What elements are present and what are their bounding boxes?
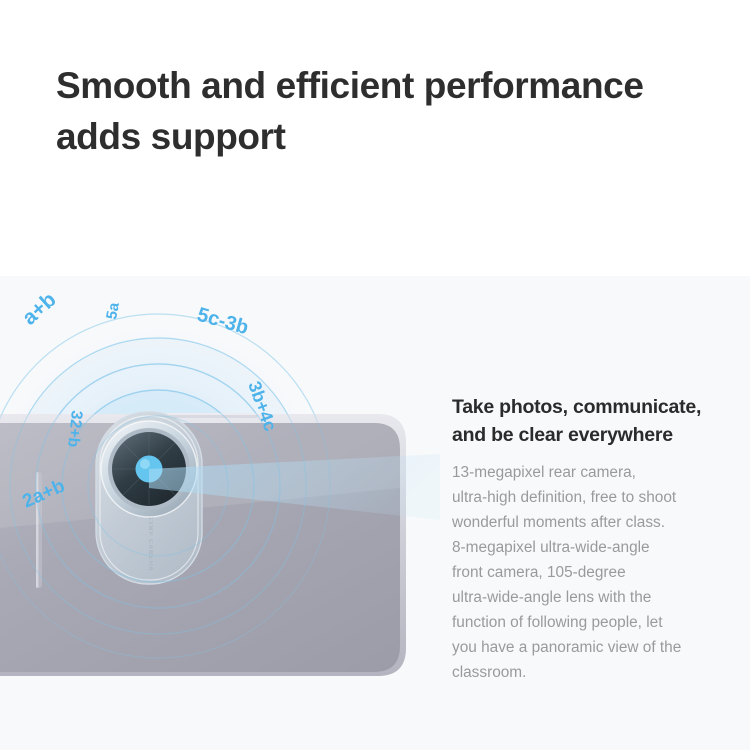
camera-engraving: 13MP CAMERA (147, 516, 153, 571)
feature-title: Take photos, communicate, and be clear e… (452, 394, 738, 449)
feature-section: 13MP CAMERA a+b 5a (0, 276, 750, 750)
device-illustration-svg: 13MP CAMERA a+b 5a (0, 276, 440, 750)
page-title: Smooth and efficient performance adds su… (56, 60, 694, 162)
formula-a-plus-b: a+b (18, 288, 61, 330)
hero-section: Smooth and efficient performance adds su… (0, 0, 750, 276)
device-illustration: 13MP CAMERA a+b 5a (0, 276, 440, 750)
feature-copy: Take photos, communicate, and be clear e… (452, 394, 738, 686)
feature-body: 13-megapixel rear camera, ultra-high def… (452, 461, 738, 686)
camera-module: 13MP CAMERA (96, 412, 202, 584)
page-root: Smooth and efficient performance adds su… (0, 0, 750, 750)
formula-five-a: 5a (103, 301, 123, 321)
lens-aperture-highlight (140, 459, 150, 469)
